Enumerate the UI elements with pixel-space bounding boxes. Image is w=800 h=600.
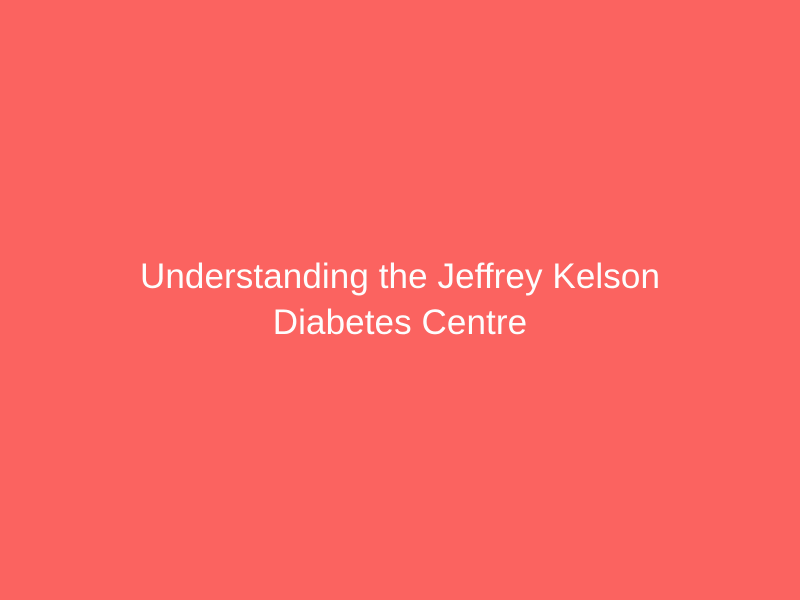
banner-content: Understanding the Jeffrey Kelson Diabete…: [80, 254, 720, 346]
banner-card: Understanding the Jeffrey Kelson Diabete…: [0, 0, 800, 600]
page-title: Understanding the Jeffrey Kelson Diabete…: [80, 254, 720, 346]
